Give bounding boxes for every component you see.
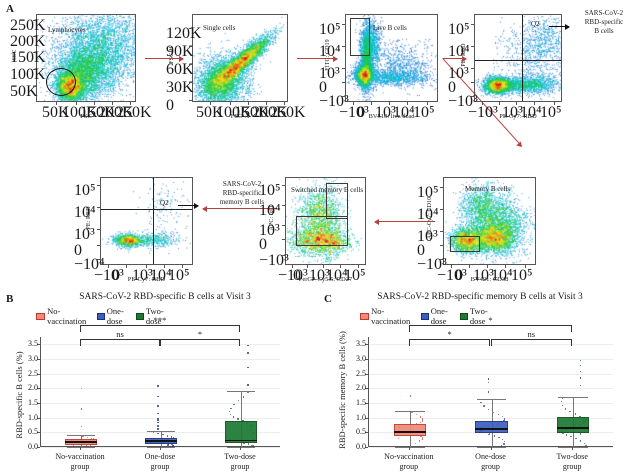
ytick-single-cells-2: 60K	[166, 61, 190, 79]
ytickmark-lymphocytes-3	[33, 69, 36, 70]
gate-label-lymphocytes: Lymphocytes	[48, 26, 86, 34]
data-point	[82, 436, 83, 437]
ytick-live-b-cells-0: 10⁵	[319, 21, 343, 39]
gate-label-single-cells: Single cells	[203, 24, 235, 32]
outlier-point	[247, 367, 248, 368]
median-line	[394, 431, 427, 433]
whisker-cap-upper	[558, 397, 587, 398]
xtickmark-rbd-specific-b-cells-1	[499, 102, 500, 105]
ytick-label-7: 3.5	[342, 339, 366, 348]
annotation-rbd-b-cells: SARS-CoV-2 RBD-specific B cells	[572, 9, 636, 36]
ytickmark-switched-memory-b-cells-2	[282, 225, 285, 226]
whisker-cap-upper	[67, 435, 96, 436]
xtick-label-line2-1: group	[115, 462, 205, 472]
legend-label-1: One-dose	[107, 306, 127, 326]
outlier-point	[157, 413, 158, 414]
annotation-line-1: SARS-CoV-2	[572, 9, 636, 18]
ytick-switched-memory-b-cells-1: 10⁴	[259, 202, 283, 220]
annotation-line-2: RBD-specific	[572, 18, 636, 27]
ytickmark-single-cells-0	[189, 28, 192, 29]
arrow-to-rbd-b-cells-annotation	[549, 26, 569, 27]
data-point	[480, 402, 481, 403]
data-point	[502, 439, 503, 440]
ytickmark-switched-memory-b-cells-4	[282, 255, 285, 256]
xtick-label-0: No-vaccinationgroup	[364, 452, 454, 472]
xtickmark-rbd-specific-memory-b-cells-0	[108, 265, 109, 268]
legend-swatch-1	[97, 313, 105, 320]
median-line	[557, 427, 590, 429]
data-point	[157, 433, 158, 434]
xtick-label-line1-1: One-dose	[446, 452, 536, 462]
ytickmark-rbd-specific-b-cells-1	[471, 46, 474, 47]
xtick-label-line1-0: No-vaccination	[364, 452, 454, 462]
xtickmark-single-cells-1	[230, 102, 231, 105]
data-point	[422, 438, 423, 439]
ytick-label-3: 1.5	[342, 398, 366, 407]
axis-label-y-b: RBD-specific B cells (%)	[14, 330, 24, 460]
xtick-label-1: One-dosegroup	[446, 452, 536, 472]
plot-area	[368, 337, 613, 447]
data-point	[565, 408, 566, 409]
outlier-point	[247, 384, 248, 385]
ytick-label-7: 3.5	[14, 339, 38, 348]
legend-item-no-vaccination[interactable]: No-vaccination	[360, 306, 412, 326]
outlier-point	[580, 360, 581, 361]
ytickmark-memory-b-cells-1	[440, 209, 443, 210]
xtickmark-memory-b-cells-3	[505, 265, 506, 268]
ytickmark-memory-b-cells-4	[440, 259, 443, 260]
ytick-label-2: 1.0	[342, 413, 366, 422]
ytick-label-1: 0.5	[342, 427, 366, 436]
ytick-label-0: 0.0	[14, 442, 38, 451]
ytickmark-live-b-cells-3	[342, 82, 345, 83]
legend-item-one-dose[interactable]: One-dose	[97, 306, 127, 326]
gate-switched-memory-upper[interactable]	[326, 183, 348, 219]
xtickmark-single-cells-2	[248, 102, 249, 105]
xtick-mark-0	[80, 447, 81, 450]
ytickmark-rbd-specific-memory-b-cells-4	[97, 259, 100, 260]
data-point	[498, 437, 499, 438]
xtickmark-live-b-cells-4	[427, 102, 428, 105]
ytickmark-live-b-cells-4	[342, 96, 345, 97]
xtickmark-lymphocytes-0	[56, 102, 57, 105]
data-point	[167, 435, 168, 436]
xtickmark-lymphocytes-2	[94, 102, 95, 105]
ytick-label-4: 2.0	[14, 383, 38, 392]
xtick-mark-2	[240, 447, 241, 450]
ytick-lymphocytes-4: 50K	[10, 83, 34, 101]
xtickmark-lymphocytes-4	[130, 102, 131, 105]
significance-bracket-2	[491, 339, 573, 346]
xtick-rbd-specific-b-cells-4: 10⁵	[540, 104, 568, 122]
data-point	[584, 443, 585, 444]
ytick-lymphocytes-3: 100K	[10, 66, 34, 84]
chart-title-b: SARS-CoV-2 RBD-specific B cells at Visit…	[20, 292, 310, 302]
ytickmark-lymphocytes-2	[33, 52, 36, 53]
ytickmark-lymphocytes-1	[33, 36, 36, 37]
whisker-cap-upper	[477, 399, 506, 400]
data-point	[580, 433, 581, 434]
xtickmark-rbd-specific-memory-b-cells-4	[182, 265, 183, 268]
ytick-rbd-specific-memory-b-cells-0: 10⁵	[74, 182, 98, 200]
xtickmark-memory-b-cells-1	[469, 265, 470, 268]
ytickmark-live-b-cells-0	[342, 24, 345, 25]
panel-b-letter: B	[6, 293, 13, 305]
gate-memory-b-cells[interactable]	[450, 236, 480, 252]
gate-live-b-cells[interactable]	[350, 18, 370, 56]
data-point	[483, 405, 484, 406]
legend-label-0: No-vaccination	[47, 306, 88, 326]
ytickmark-memory-b-cells-0	[440, 187, 443, 188]
significance-label-star: *	[471, 315, 511, 325]
xtick-switched-memory-b-cells-4: 10⁵	[344, 267, 372, 285]
xtickmark-live-b-cells-2	[389, 102, 390, 105]
ytick-lymphocytes-2: 150K	[10, 49, 34, 67]
data-point	[171, 436, 172, 437]
significance-bracket-2	[160, 339, 240, 346]
xtick-single-cells-4: 250K	[270, 104, 298, 122]
data-point	[493, 412, 494, 413]
xtick-mark-1	[491, 447, 492, 450]
xtickmark-memory-b-cells-0	[451, 265, 452, 268]
xtickmark-lymphocytes-3	[112, 102, 113, 105]
xtick-label-line2-0: group	[35, 462, 125, 472]
gridline-6	[369, 359, 613, 360]
xtick-label-1: One-dosegroup	[115, 452, 205, 472]
data-point	[251, 445, 252, 446]
ytickmark-single-cells-2	[189, 64, 192, 65]
data-point	[566, 434, 567, 435]
legend-label-1: One-dose	[431, 306, 451, 326]
ytickmark-switched-memory-b-cells-1	[282, 205, 285, 206]
outlier-point	[580, 365, 581, 366]
outlier-point	[81, 408, 82, 409]
ytick-label-1: 0.5	[14, 427, 38, 436]
data-point	[498, 414, 499, 415]
legend-label-0: No-vaccination	[371, 306, 412, 326]
ytick-rbd-specific-b-cells-0: 10⁵	[448, 21, 472, 39]
xtickmark-rbd-specific-memory-b-cells-3	[164, 265, 165, 268]
xtick-label-2: Two-dosegroup	[195, 452, 285, 472]
data-point	[229, 411, 230, 412]
outlier-point	[81, 426, 82, 427]
flow-plot-area-rbd-memory	[100, 177, 193, 265]
legend-item-one-dose[interactable]: One-dose	[421, 306, 451, 326]
data-point	[504, 418, 505, 419]
ytick-rbd-specific-memory-b-cells-1: 10⁴	[74, 204, 98, 222]
quadrant-label-q2-bottom: Q2	[160, 199, 169, 207]
data-point	[570, 436, 571, 437]
ytick-memory-b-cells-1: 10⁴	[417, 206, 441, 224]
ytickmark-rbd-specific-memory-b-cells-0	[97, 185, 100, 186]
xtick-mark-1	[160, 447, 161, 450]
data-point	[585, 445, 586, 446]
data-point	[238, 400, 239, 401]
xtickmark-live-b-cells-1	[371, 102, 372, 105]
ytick-single-cells-0: 120K	[166, 25, 190, 43]
plot-area	[40, 337, 280, 447]
legend-swatch-0	[36, 313, 45, 320]
xtickmark-switched-memory-b-cells-1	[307, 265, 308, 268]
ytickmark-memory-b-cells-3	[440, 245, 443, 246]
significance-label-ns: ns	[100, 329, 140, 339]
xtick-label-line1-2: Two-dose	[195, 452, 285, 462]
outlier-point	[580, 377, 581, 378]
xtickmark-single-cells-4	[284, 102, 285, 105]
xtick-label-line2-2: group	[195, 462, 285, 472]
xtick-label-line1-2: Two-dose	[527, 452, 617, 462]
significance-label-star: *	[430, 329, 470, 339]
xtick-label-line1-0: No-vaccination	[35, 452, 125, 462]
gate-label-memory-b-cells: Memory B cells	[465, 185, 510, 193]
annotation-line-3: B cells	[572, 27, 636, 36]
xtick-live-b-cells-4: 10⁵	[413, 104, 441, 122]
ytickmark-lymphocytes-4	[33, 86, 36, 87]
data-point	[162, 434, 163, 435]
data-point	[247, 392, 248, 393]
arrow-to-rbd-memory-annotation	[178, 205, 198, 206]
data-point	[248, 443, 249, 444]
gridline-5	[369, 374, 613, 375]
data-point	[494, 435, 495, 436]
data-point	[562, 398, 563, 399]
data-point	[488, 409, 489, 410]
ytick-label-2: 1.0	[14, 413, 38, 422]
chart-title-c: SARS-CoV-2 RBD-specific memory B cells a…	[330, 292, 630, 302]
outlier-point	[580, 385, 581, 386]
ytickmark-switched-memory-b-cells-3	[282, 239, 285, 240]
median-line	[225, 440, 257, 442]
flow-plot-area-rbd-specific-b-cells	[474, 14, 562, 102]
gridline-6	[41, 359, 280, 360]
xtick-label-line2-1: group	[446, 462, 536, 472]
xtickmark-rbd-specific-memory-b-cells-1	[126, 265, 127, 268]
gate-label-live-b-cells: Live B cells	[373, 24, 407, 32]
median-line	[65, 441, 97, 443]
data-point	[580, 440, 581, 441]
xtickmark-lymphocytes-1	[76, 102, 77, 105]
ytickmark-lymphocytes-0	[33, 20, 36, 21]
ytickmark-single-cells-4	[189, 100, 192, 101]
xtick-label-line2-0: group	[364, 462, 454, 472]
xtick-label-0: No-vaccinationgroup	[35, 452, 125, 472]
xtickmark-live-b-cells-0	[353, 102, 354, 105]
xtickmark-switched-memory-b-cells-4	[358, 265, 359, 268]
xtick-mark-2	[572, 447, 573, 450]
legend-item-no-vaccination[interactable]: No-vaccination	[36, 306, 88, 326]
ytickmark-switched-memory-b-cells-0	[282, 185, 285, 186]
xtick-mark-0	[409, 447, 410, 450]
gridline-2	[41, 418, 280, 419]
data-point	[416, 414, 417, 415]
xtick-label-line1-1: One-dose	[115, 452, 205, 462]
outlier-point	[247, 345, 248, 346]
ytickmark-single-cells-1	[189, 46, 192, 47]
box-two-dose[interactable]	[557, 417, 590, 433]
ytick-single-cells-3: 30K	[166, 79, 190, 97]
whisker-cap-upper	[227, 391, 256, 392]
median-line	[145, 440, 177, 442]
xtick-memory-b-cells-4: 10⁵	[511, 267, 539, 285]
outlier-point	[157, 396, 158, 397]
xtickmark-rbd-specific-b-cells-0	[482, 102, 483, 105]
data-point	[575, 413, 576, 414]
gridline-5	[41, 374, 280, 375]
xtick-rbd-specific-memory-b-cells-4: 10⁵	[168, 267, 196, 285]
significance-label-star**: ***	[140, 315, 180, 325]
ytick-label-3: 1.5	[14, 398, 38, 407]
xtickmark-rbd-specific-b-cells-2	[516, 102, 517, 105]
ytick-rbd-specific-b-cells-1: 10⁴	[448, 43, 472, 61]
outlier-point	[488, 378, 489, 379]
data-point	[575, 438, 576, 439]
outlier-point	[157, 385, 158, 386]
outlier-point	[247, 352, 248, 353]
ytick-single-cells-1: 90K	[166, 43, 190, 61]
xtickmark-rbd-specific-memory-b-cells-2	[146, 265, 147, 268]
significance-label-ns: ns	[511, 329, 551, 339]
data-point	[73, 445, 74, 446]
xtickmark-rbd-specific-b-cells-4	[554, 102, 555, 105]
significance-bracket-1	[409, 339, 491, 346]
ytick-label-5: 2.5	[342, 369, 366, 378]
outlier-point	[157, 405, 158, 406]
xtickmark-switched-memory-b-cells-2	[323, 265, 324, 268]
ytickmark-rbd-specific-b-cells-0	[471, 24, 474, 25]
ytick-switched-memory-b-cells-0: 10⁵	[259, 182, 283, 200]
gate-switched-memory-lower[interactable]	[296, 216, 348, 246]
outlier-point	[157, 418, 158, 419]
ytick-live-b-cells-1: 10⁴	[319, 43, 343, 61]
outlier-point	[488, 391, 489, 392]
data-point	[233, 404, 234, 405]
ytick-label-6: 3.0	[342, 354, 366, 363]
xtickmark-live-b-cells-3	[407, 102, 408, 105]
xtickmark-single-cells-3	[266, 102, 267, 105]
ytickmark-memory-b-cells-2	[440, 231, 443, 232]
outlier-point	[488, 382, 489, 383]
gate-lymphocytes[interactable]	[46, 68, 76, 96]
outlier-point	[580, 371, 581, 372]
ytick-single-cells-4: 0	[166, 97, 190, 115]
ytickmark-rbd-specific-b-cells-3	[471, 82, 474, 83]
outlier-point	[157, 428, 158, 429]
data-point	[419, 440, 420, 441]
outlier-point	[410, 395, 411, 396]
ytickmark-live-b-cells-2	[342, 68, 345, 69]
legend-swatch-0	[360, 313, 369, 320]
ytick-memory-b-cells-0: 10⁵	[417, 184, 441, 202]
legend-swatch-1	[421, 313, 429, 320]
data-point	[422, 420, 423, 421]
data-point	[230, 414, 231, 415]
legend-swatch-2	[460, 313, 468, 320]
ytickmark-rbd-specific-b-cells-4	[471, 96, 474, 97]
data-point	[422, 437, 423, 438]
data-point	[562, 405, 563, 406]
quadrant-label-q2-top: Q2	[531, 20, 540, 28]
ytick-label-4: 2.0	[342, 383, 366, 392]
ytickmark-rbd-specific-memory-b-cells-1	[97, 207, 100, 208]
outlier-point	[157, 425, 158, 426]
data-point	[167, 444, 168, 445]
ytickmark-rbd-specific-b-cells-2	[471, 68, 474, 69]
data-point	[243, 396, 244, 397]
xtickmark-rbd-specific-b-cells-3	[534, 102, 535, 105]
median-line	[475, 428, 508, 430]
gridline-3	[41, 403, 280, 404]
gridline-4	[369, 388, 613, 389]
whisker-cap-upper	[147, 431, 176, 432]
data-point	[561, 401, 562, 402]
xtick-label-line2-2: group	[527, 462, 617, 472]
xtickmark-memory-b-cells-4	[525, 265, 526, 268]
xtickmark-memory-b-cells-2	[487, 265, 488, 268]
data-point	[86, 445, 87, 446]
xtick-lymphocytes-4: 250K	[116, 104, 144, 122]
data-point	[398, 438, 399, 439]
ytickmark-rbd-specific-memory-b-cells-2	[97, 229, 100, 230]
panel-a-letter: A	[6, 3, 14, 15]
data-point	[503, 443, 504, 444]
data-point	[504, 441, 505, 442]
xtickmark-single-cells-0	[210, 102, 211, 105]
gridline-4	[41, 388, 280, 389]
ytick-label-6: 3.0	[14, 354, 38, 363]
data-point	[173, 445, 174, 446]
xtickmark-switched-memory-b-cells-3	[340, 265, 341, 268]
data-point	[87, 437, 88, 438]
ytickmark-rbd-specific-memory-b-cells-3	[97, 245, 100, 246]
significance-label-star: *	[180, 329, 220, 339]
ytick-label-0: 0.0	[342, 442, 366, 451]
whisker-cap-upper	[395, 411, 424, 412]
data-point	[230, 408, 231, 409]
data-point	[569, 411, 570, 412]
ytickmark-live-b-cells-1	[342, 46, 345, 47]
ytick-label-5: 2.5	[14, 369, 38, 378]
data-point	[237, 418, 238, 419]
xtick-label-2: Two-dosegroup	[527, 452, 617, 472]
outlier-point	[157, 422, 158, 423]
ytickmark-single-cells-3	[189, 82, 192, 83]
data-point	[415, 443, 416, 444]
significance-bracket-1	[80, 339, 160, 346]
